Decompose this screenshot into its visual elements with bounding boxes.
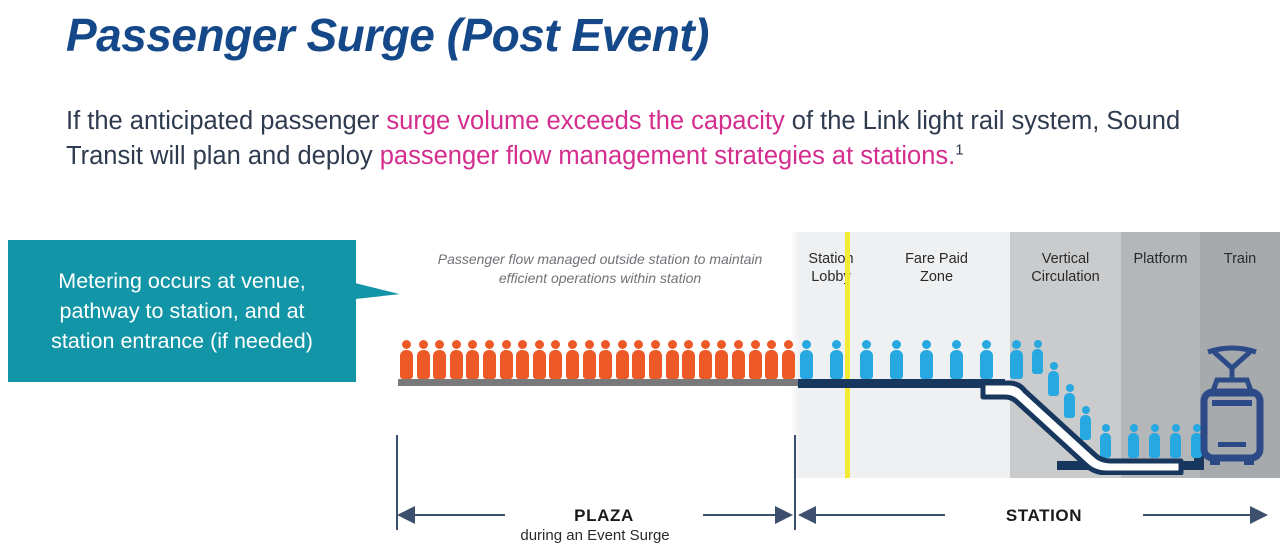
figure-body [765,350,778,379]
figure-head [1012,340,1021,349]
plaza-caption-line2: efficient operations within station [499,270,701,286]
figure-head [751,340,760,349]
zone-label-line1: Fare Paid [905,251,968,267]
figure-body [466,350,479,379]
figure-body [950,350,963,379]
figure-body [749,350,762,379]
plaza-caption: Passenger flow managed outside station t… [413,250,787,288]
metering-callout-text: Metering occurs at venue, pathway to sta… [8,266,356,356]
station-upper-floor [798,379,1005,388]
body-segment-1: If the anticipated passenger [66,107,386,135]
passenger-figure [583,340,596,379]
passenger-figure [549,340,562,379]
passenger-figure [800,340,813,379]
passenger-figure [765,340,778,379]
figure-head [982,340,991,349]
passenger-figure [920,340,933,379]
passenger-figure [599,340,612,379]
figure-head [618,340,627,349]
figure-body [649,350,662,379]
figure-head [922,340,931,349]
zone-label-station-lobby: Station Lobby [799,250,863,286]
figure-body [890,350,903,379]
figure-head [862,340,871,349]
passenger-figure [890,340,903,379]
passenger-figure [749,340,762,379]
body-accent-surge-capacity: surge volume exceeds the capacity [386,107,784,135]
passenger-figure [483,340,496,379]
figure-head [701,340,710,349]
plaza-ground-bar [398,379,801,386]
figure-head [952,340,961,349]
figure-head [601,340,610,349]
figure-head [651,340,660,349]
figure-head [551,340,560,349]
zone-label-line2: Circulation [1031,269,1100,285]
figure-body [599,350,612,379]
passenger-figure [699,340,712,379]
figure-head [802,340,811,349]
figure-body [860,350,873,379]
figure-body [483,350,496,379]
figure-head [832,340,841,349]
passenger-figure [666,340,679,379]
figure-head [784,340,793,349]
passenger-figure [417,340,430,379]
figure-body [417,350,430,379]
figure-head [402,340,411,349]
passenger-figure [830,340,843,379]
figure-head [518,340,527,349]
figure-body [433,350,446,379]
figure-body [782,350,795,379]
figure-body [400,350,413,379]
figure-head [435,340,444,349]
body-accent-flow-strategies: passenger flow management strategies at … [380,142,955,170]
callout-line1: Metering occurs at venue, [58,269,305,293]
passenger-figure [860,340,873,379]
figure-head [468,340,477,349]
passenger-figure [732,340,745,379]
figure-head [634,340,643,349]
figure-head [734,340,743,349]
figure-head [535,340,544,349]
zone-label-line2: Zone [920,269,953,285]
figure-head [1034,340,1042,348]
span-label-station: STATION [945,506,1143,526]
figure-body [715,350,728,379]
figure-head [767,340,776,349]
span-label-plaza: PLAZA [505,506,703,526]
figure-body [549,350,562,379]
span-sublabel-plaza: during an Event Surge [495,527,695,544]
figure-head [502,340,511,349]
zone-label-vertical-circulation: Vertical Circulation [1010,250,1121,286]
passenger-figure [782,340,795,379]
zone-label-line1: Vertical [1042,251,1090,267]
zone-label-train: Train [1200,250,1280,268]
passenger-figure [632,340,645,379]
zone-label-platform: Platform [1121,250,1200,268]
zone-label-fare-paid: Fare Paid Zone [863,250,1010,286]
callout-line2: pathway to station, and at [59,299,304,323]
figure-body [682,350,695,379]
figure-body [632,350,645,379]
figure-head [452,340,461,349]
figure-body [699,350,712,379]
figure-body [583,350,596,379]
passenger-figure [682,340,695,379]
passenger-figure [950,340,963,379]
figure-body [516,350,529,379]
passenger-figure [715,340,728,379]
figure-head [568,340,577,349]
figure-body [533,350,546,379]
figure-body [732,350,745,379]
passenger-figure [616,340,629,379]
figure-head [684,340,693,349]
body-paragraph: If the anticipated passenger surge volum… [66,104,1226,174]
passenger-figure [516,340,529,379]
passenger-figure [533,340,546,379]
page-title: Passenger Surge (Post Event) [66,8,709,62]
plaza-caption-line1: Passenger flow managed outside station t… [438,251,763,267]
passenger-figure [500,340,513,379]
figure-body [666,350,679,379]
callout-line3: station entrance (if needed) [51,329,313,353]
figure-body [616,350,629,379]
footnote-marker: 1 [955,142,963,159]
figure-body [566,350,579,379]
figure-body [450,350,463,379]
figure-head [668,340,677,349]
figure-body [920,350,933,379]
passenger-figure [450,340,463,379]
figure-head [485,340,494,349]
passenger-figure [466,340,479,379]
figure-head [585,340,594,349]
passenger-figure [649,340,662,379]
figure-body [800,350,813,379]
figure-head [717,340,726,349]
passenger-figure [566,340,579,379]
metering-callout-box: Metering occurs at venue, pathway to sta… [8,240,356,382]
figure-body [830,350,843,379]
passenger-figure [433,340,446,379]
passenger-figure [400,340,413,379]
figure-head [419,340,428,349]
figure-head [892,340,901,349]
figure-body [500,350,513,379]
